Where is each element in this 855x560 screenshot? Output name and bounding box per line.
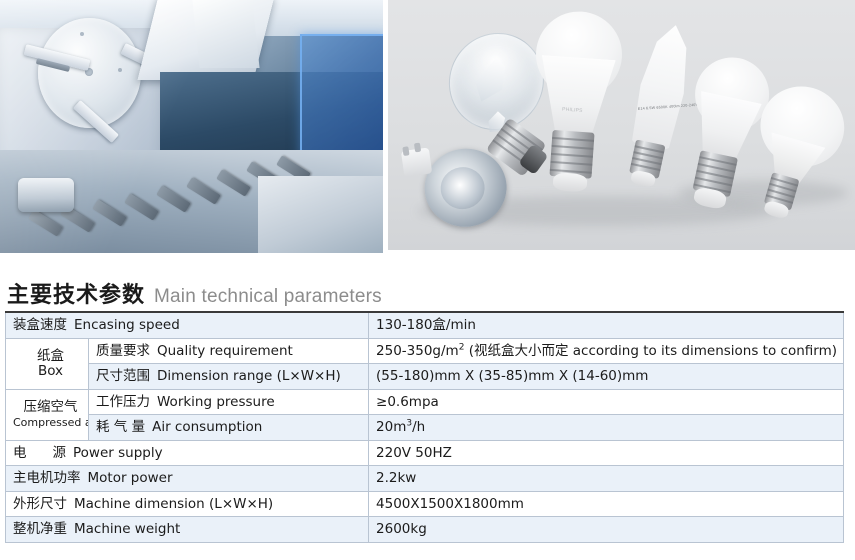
light-bulbs-photo: PHILIPS E14 6.5W 6500K 400lm 220-240V~50… — [388, 0, 855, 250]
row-label-motor-power: 主电机功率Motor power — [6, 466, 369, 492]
section-heading: 主要技术参数 Main technical parameters — [7, 277, 382, 309]
spec-sheet-page: PHILIPS E14 6.5W 6500K 400lm 220-240V~50… — [0, 0, 855, 560]
row-label-dimension-range: 尺寸范围Dimension range (L×W×H) — [89, 364, 369, 390]
machine-photo-highlight — [0, 0, 383, 253]
table-row: 压缩空气 Compressed air 工作压力Working pressure… — [6, 389, 844, 415]
table-row: 电源Power supply 220V 50HZ — [6, 440, 844, 466]
table-row: 尺寸范围Dimension range (L×W×H) (55-180)mm X… — [6, 364, 844, 390]
row-value-quality-requirement: 250-350g/m2 (视纸盒大小而定 according to its di… — [369, 338, 844, 364]
cartoning-machine-photo — [0, 0, 383, 253]
row-value-machine-dimension: 4500X1500X1800mm — [369, 491, 844, 517]
row-value-working-pressure: ≥0.6mpa — [369, 389, 844, 415]
table-row: 纸盒 Box 质量要求Quality requirement 250-350g/… — [6, 338, 844, 364]
row-value-encasing-speed: 130-180盒/min — [369, 312, 844, 338]
spec-table: 装盒速度Encasing speed 130-180盒/min 纸盒 Box 质… — [5, 311, 844, 543]
section-heading-en: Main technical parameters — [154, 286, 382, 308]
table-row: 外形尺寸Machine dimension (L×W×H) 4500X1500X… — [6, 491, 844, 517]
row-group-compressed-air: 压缩空气 Compressed air — [6, 389, 89, 440]
e27-screw-base — [549, 130, 594, 179]
row-label-machine-weight: 整机净重Machine weight — [6, 517, 369, 543]
row-value-air-consumption: 20m3/h — [369, 415, 844, 441]
row-value-dimension-range: (55-180)mm X (35-85)mm X (14-60)mm — [369, 364, 844, 390]
led-body — [536, 55, 615, 138]
spec-table-wrap: 装盒速度Encasing speed 130-180盒/min 纸盒 Box 质… — [5, 311, 843, 543]
section-heading-cn: 主要技术参数 — [7, 277, 145, 309]
photo-row: PHILIPS E14 6.5W 6500K 400lm 220-240V~50… — [0, 0, 855, 253]
table-row: 耗 气 量Air consumption 20m3/h — [6, 415, 844, 441]
row-label-encasing-speed: 装盒速度Encasing speed — [6, 312, 369, 338]
row-value-motor-power: 2.2kw — [369, 466, 844, 492]
table-row: 主电机功率Motor power 2.2kw — [6, 466, 844, 492]
row-group-box: 纸盒 Box — [6, 338, 89, 389]
row-value-machine-weight: 2600kg — [369, 517, 844, 543]
base-insulator-tip — [552, 172, 587, 192]
table-row: 装盒速度Encasing speed 130-180盒/min — [6, 312, 844, 338]
row-label-machine-dimension: 外形尺寸Machine dimension (L×W×H) — [6, 491, 369, 517]
row-label-working-pressure: 工作压力Working pressure — [89, 389, 369, 415]
row-value-power-supply: 220V 50HZ — [369, 440, 844, 466]
row-label-quality-requirement: 质量要求Quality requirement — [89, 338, 369, 364]
table-row: 整机净重Machine weight 2600kg — [6, 517, 844, 543]
row-label-air-consumption: 耗 气 量Air consumption — [89, 415, 369, 441]
row-label-power-supply: 电源Power supply — [6, 440, 369, 466]
